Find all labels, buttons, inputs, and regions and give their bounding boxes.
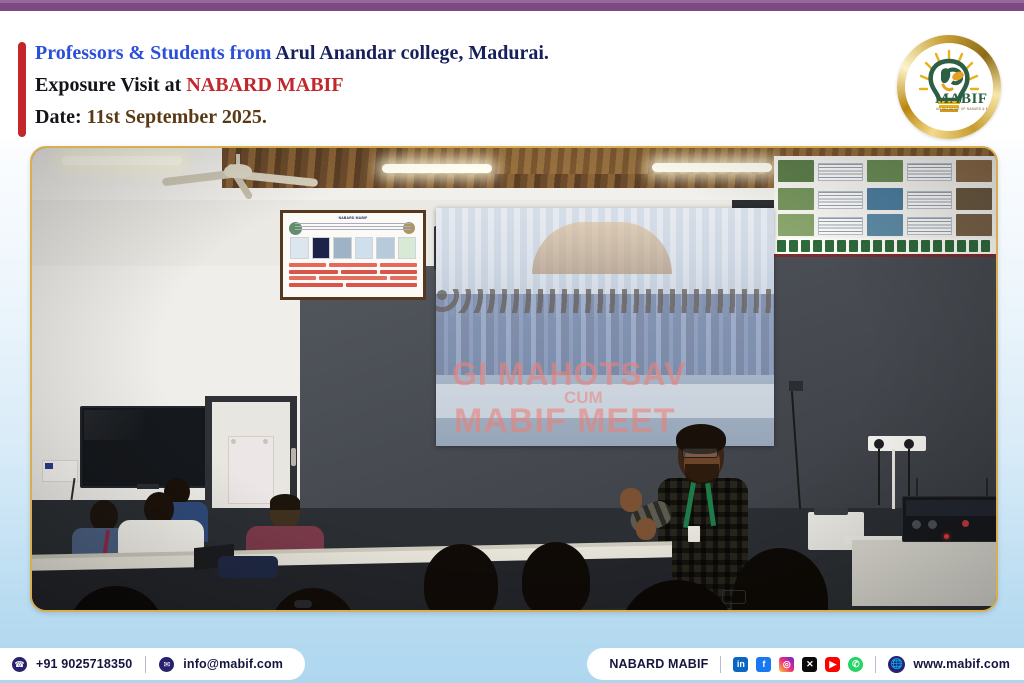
- whatsapp-icon[interactable]: ✆: [848, 657, 863, 672]
- footer: ☎ +91 9025718350 ✉ info@mabif.com NABARD…: [0, 648, 1024, 683]
- header-accent-bar: [18, 42, 26, 137]
- title-line-2: Exposure Visit at NABARD MABIF: [35, 69, 735, 101]
- title-line-3: Date: 11st September 2025.: [35, 101, 735, 133]
- mabif-logo-wordmark: MABIF: [935, 91, 988, 108]
- header: Professors & Students from Arul Anandar …: [0, 11, 1024, 140]
- footer-divider-1: [145, 656, 146, 673]
- audience-4-body: [494, 610, 622, 612]
- title-line-1-college: Arul Anandar college, Madurai.: [275, 42, 549, 64]
- x-twitter-icon[interactable]: ✕: [802, 657, 817, 672]
- footer-divider-3: [875, 656, 876, 673]
- mabif-bulb-hand-icon: [905, 43, 993, 131]
- phone-icon: ☎: [12, 657, 27, 672]
- title-line-2-prefix: Exposure Visit at: [35, 74, 186, 96]
- footer-social-pill: NABARD MABIF in f ◎ ✕ ▶ ✆ 🌐 www.mabif.co…: [587, 648, 1024, 680]
- date-label: Date:: [35, 106, 87, 128]
- header-text-block: Professors & Students from Arul Anandar …: [35, 37, 735, 133]
- top-accent-bar: [0, 0, 1024, 11]
- globe-icon: 🌐: [888, 656, 905, 673]
- youtube-icon[interactable]: ▶: [825, 657, 840, 672]
- mabif-logo: MABIF AN INITIATIVE OF NABARD & MSME: [897, 35, 1001, 139]
- title-line-1-prefix: Professors & Students from: [35, 42, 275, 64]
- mabif-logo-tagline: AN INITIATIVE OF NABARD & MSME: [936, 107, 993, 111]
- footer-contact-pill: ☎ +91 9025718350 ✉ info@mabif.com: [0, 648, 305, 680]
- event-photo: NABARD MABIF: [32, 148, 996, 610]
- photo-vignette: [32, 148, 996, 610]
- envelope-icon: ✉: [159, 657, 174, 672]
- top-bar-sheen: [0, 0, 1024, 3]
- footer-website[interactable]: www.mabif.com: [913, 657, 1010, 671]
- instagram-icon[interactable]: ◎: [779, 657, 794, 672]
- title-line-1: Professors & Students from Arul Anandar …: [35, 37, 735, 69]
- footer-divider-2: [720, 656, 721, 673]
- facebook-icon[interactable]: f: [756, 657, 771, 672]
- mabif-logo-inner: MABIF AN INITIATIVE OF NABARD & MSME: [905, 43, 993, 131]
- event-photo-frame: NABARD MABIF: [30, 146, 998, 612]
- footer-email[interactable]: info@mabif.com: [183, 657, 283, 671]
- linkedin-icon[interactable]: in: [733, 657, 748, 672]
- footer-phone[interactable]: +91 9025718350: [36, 657, 132, 671]
- date-value: 11st September 2025.: [87, 106, 267, 128]
- footer-brand: NABARD MABIF: [609, 657, 708, 671]
- title-line-2-org: NABARD MABIF: [186, 74, 343, 96]
